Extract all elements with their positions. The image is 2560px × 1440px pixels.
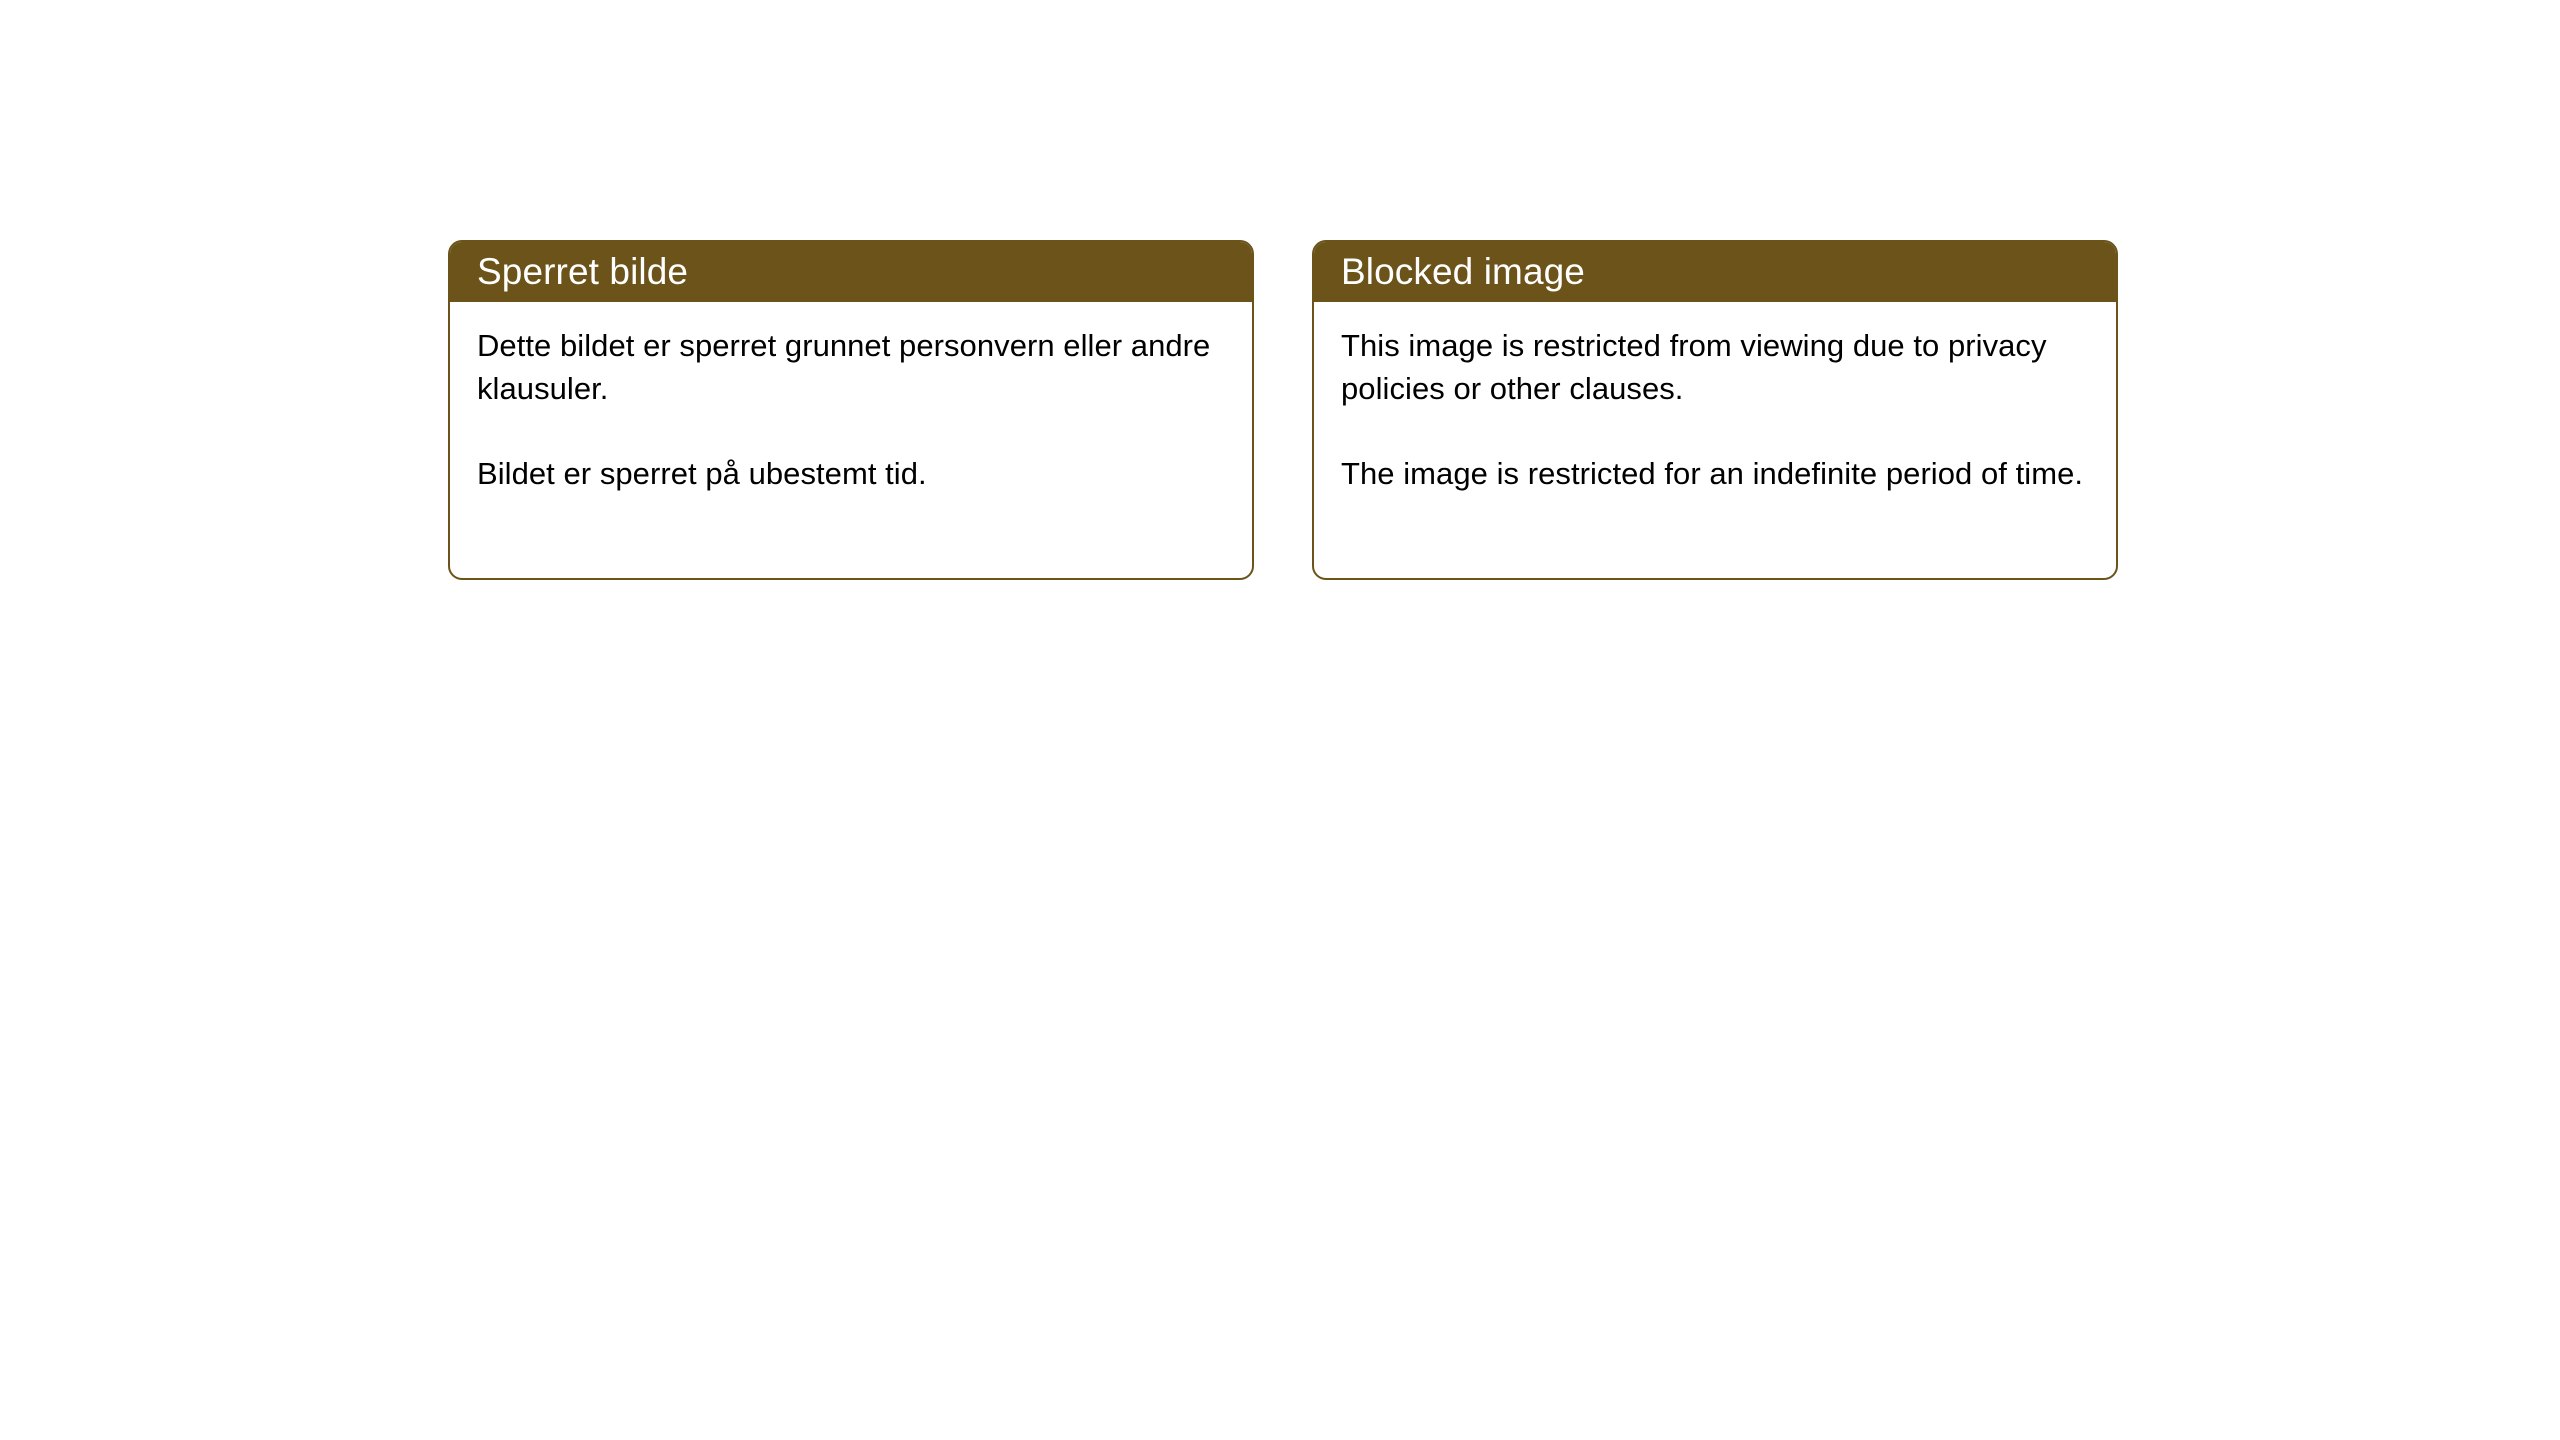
panel-paragraph-reason-norwegian: Dette bildet er sperret grunnet personve…: [477, 324, 1226, 410]
blocked-image-notice-panel-english: Blocked image This image is restricted f…: [1312, 240, 2118, 580]
panel-header-english: Blocked image: [1314, 242, 2116, 302]
panel-body-english: This image is restricted from viewing du…: [1314, 302, 2116, 495]
panel-header-norwegian: Sperret bilde: [450, 242, 1252, 302]
panel-body-norwegian: Dette bildet er sperret grunnet personve…: [450, 302, 1252, 495]
panel-paragraph-duration-english: The image is restricted for an indefinit…: [1341, 452, 2090, 495]
panel-title-norwegian: Sperret bilde: [477, 250, 688, 294]
panel-paragraph-duration-norwegian: Bildet er sperret på ubestemt tid.: [477, 452, 1226, 495]
panel-title-english: Blocked image: [1341, 250, 1585, 294]
panel-paragraph-reason-english: This image is restricted from viewing du…: [1341, 324, 2090, 410]
blocked-image-notice-panel-norwegian: Sperret bilde Dette bildet er sperret gr…: [448, 240, 1254, 580]
page-canvas: Sperret bilde Dette bildet er sperret gr…: [0, 0, 2560, 1440]
